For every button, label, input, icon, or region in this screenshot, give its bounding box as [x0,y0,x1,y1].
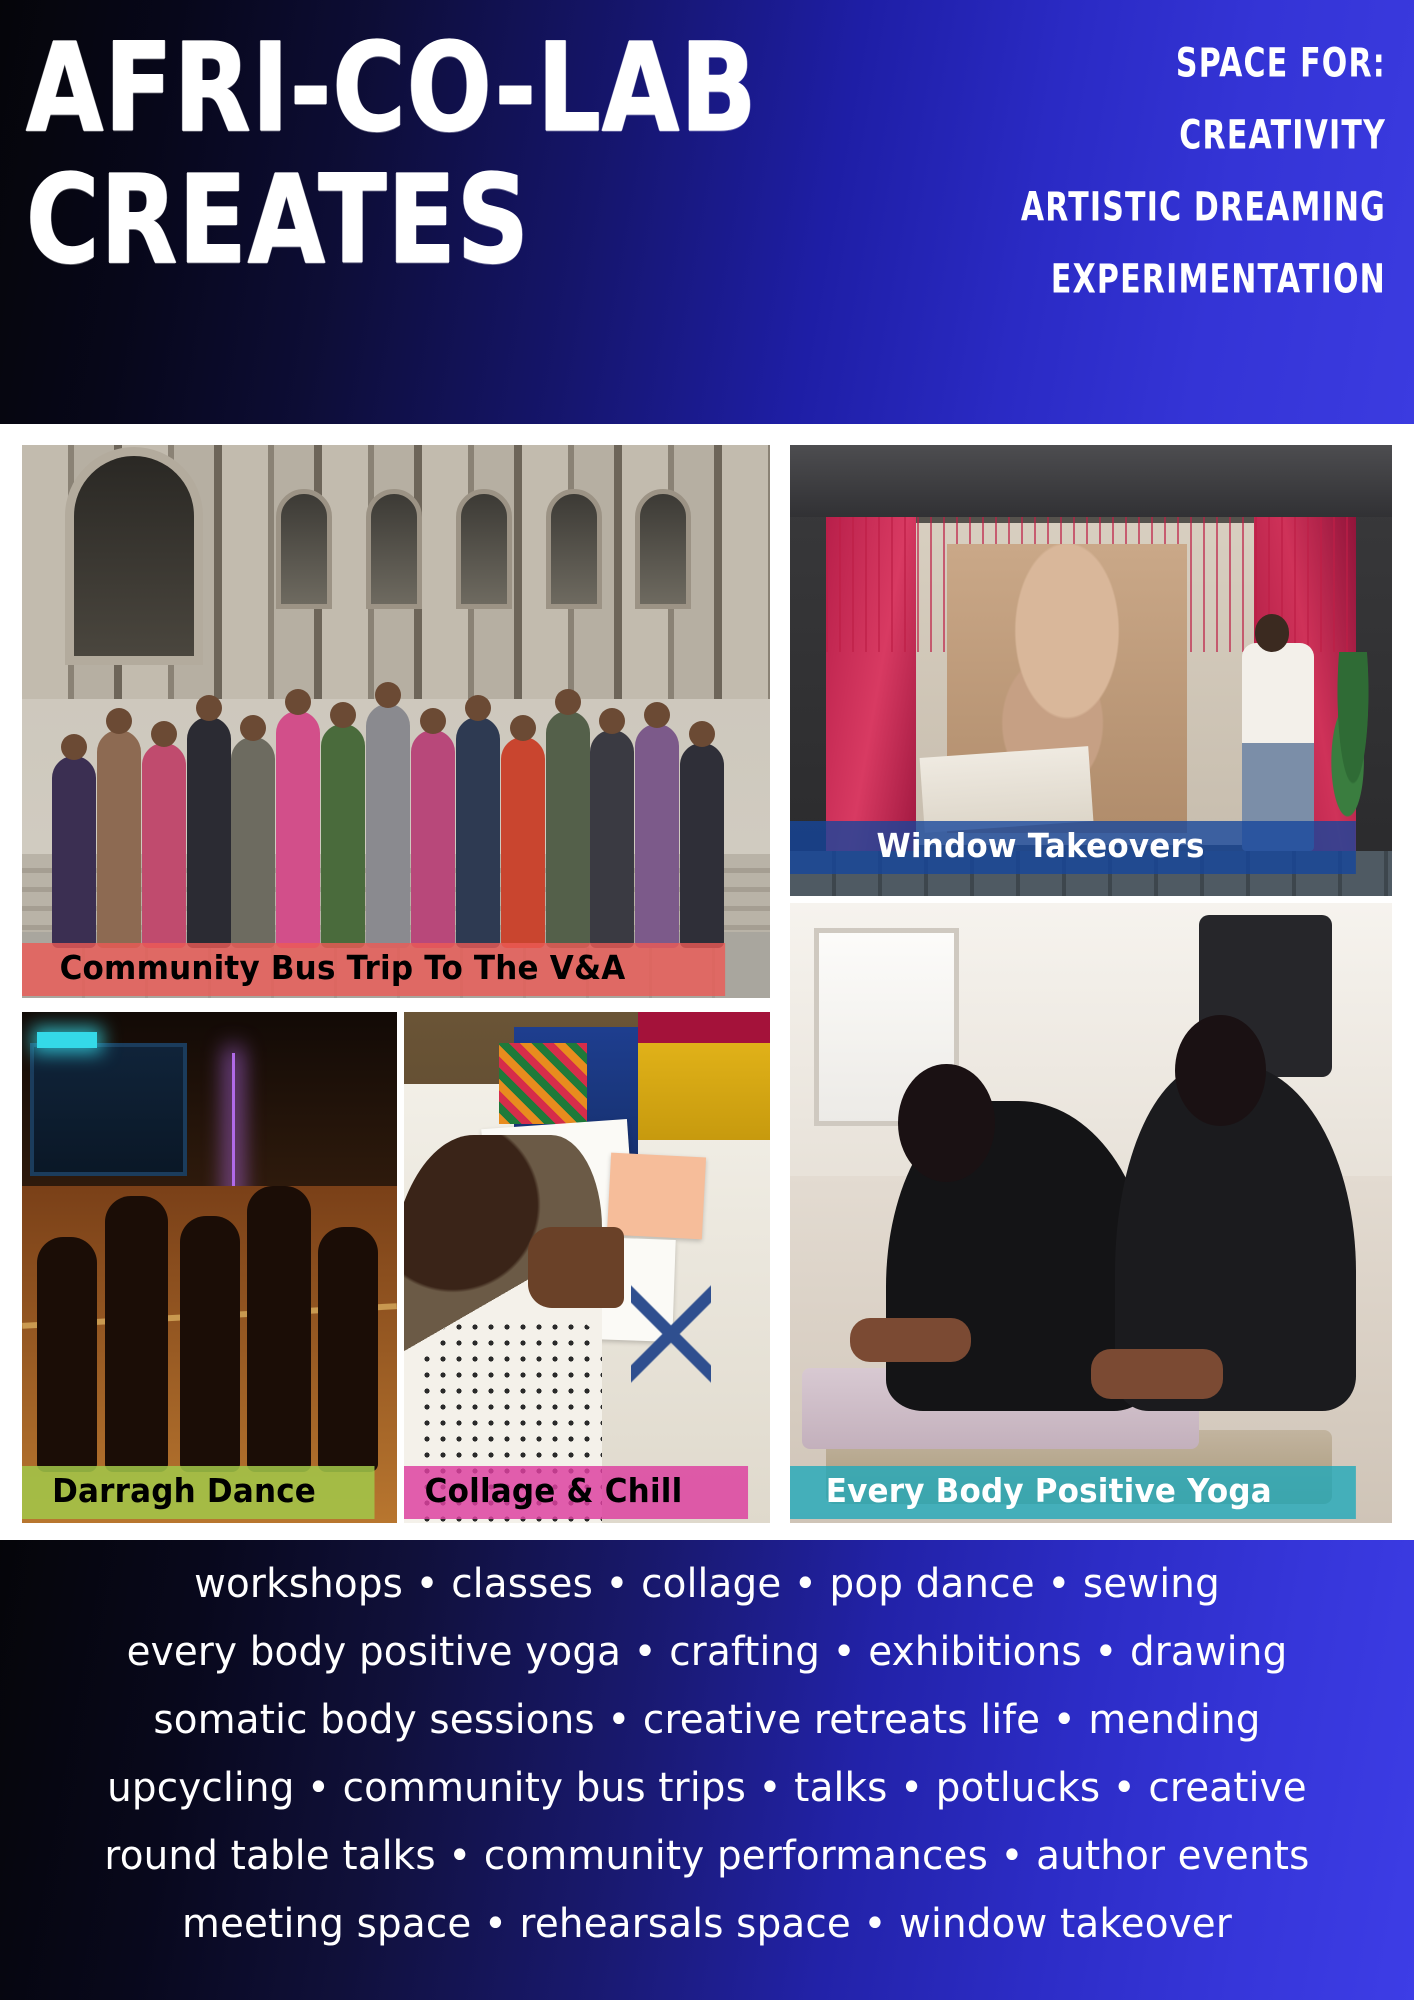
photo-community-bus-trip [22,445,770,998]
subtitle-line-2: CREATIVITY [966,116,1386,157]
gallery-tile-caption: Every Body Positive Yoga [790,1466,1356,1519]
activity-line-2: every body positive yoga • crafting • ex… [50,1632,1363,1672]
gallery-tile-caption: Darragh Dance [22,1466,375,1519]
gallery-tile-caption: Collage & Chill [404,1466,748,1519]
subtitle-line-4: EXPERIMENTATION [966,260,1386,301]
gallery-tile-darragh-dance[interactable]: Darragh Dance [22,1012,397,1523]
poster-title: AFRI-CO-LAB CREATES [26,30,986,258]
title-line-2: CREATES [26,162,986,279]
photo-darragh-dance [22,1012,397,1523]
activity-line-1: workshops • classes • collage • pop danc… [50,1564,1363,1604]
subtitle-line-1: SPACE FOR: [966,44,1386,85]
activity-line-6: meeting space • rehearsals space • windo… [50,1904,1363,1944]
gallery-tile-caption: Community Bus Trip To The V&A [22,943,725,996]
title-line-1: AFRI-CO-LAB [26,30,986,147]
gallery-tile-collage-and-chill[interactable]: Collage & Chill [404,1012,770,1523]
poster-subtitle-list: SPACE FOR: CREATIVITY ARTISTIC DREAMING … [966,44,1386,290]
activity-line-4: upcycling • community bus trips • talks … [50,1768,1363,1808]
gallery-tile-window-takeovers[interactable]: Window Takeovers [790,445,1392,896]
photo-collage-and-chill [404,1012,770,1523]
poster-header: AFRI-CO-LAB CREATES SPACE FOR: CREATIVIT… [0,0,1414,424]
photo-gallery: Community Bus Trip To The V&A Window Tak… [0,424,1414,1540]
gallery-tile-community-bus-trip[interactable]: Community Bus Trip To The V&A [22,445,770,998]
activity-line-3: somatic body sessions • creative retreat… [50,1700,1363,1740]
subtitle-line-3: ARTISTIC DREAMING [966,188,1386,229]
photo-every-body-positive-yoga [790,903,1392,1523]
gallery-tile-caption: Window Takeovers [790,821,1356,874]
gallery-tile-every-body-positive-yoga[interactable]: Every Body Positive Yoga [790,903,1392,1523]
poster-footer-activities: workshops • classes • collage • pop danc… [0,1540,1414,2000]
activity-line-5: round table talks • community performanc… [50,1836,1363,1876]
